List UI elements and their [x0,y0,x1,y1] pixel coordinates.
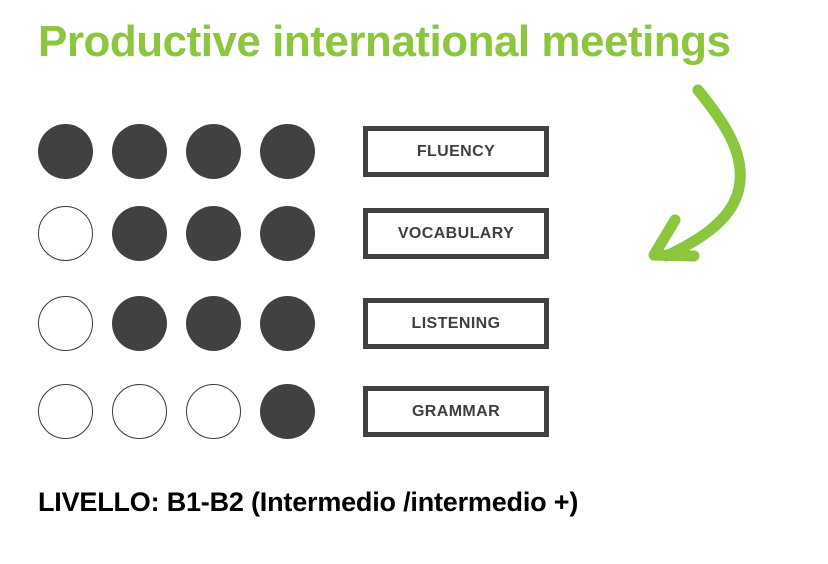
skill-label-box-fluency: FLUENCY [363,126,549,177]
rating-dot-filled [112,206,167,261]
skill-label: GRAMMAR [412,403,500,421]
level-text: LIVELLO: B1-B2 (Intermedio /intermedio +… [38,487,578,518]
skill-row: FLUENCY [38,124,558,180]
skill-label-box-listening: LISTENING [363,298,549,349]
rating-dot-empty [112,384,167,439]
rating-dot-filled [260,124,315,179]
rating-dot-empty [38,296,93,351]
rating-dot-filled [38,124,93,179]
rating-dot-filled [112,296,167,351]
rating-dot-filled [186,206,241,261]
rating-dot-filled [112,124,167,179]
rating-dot-filled [260,206,315,261]
skill-rating-dots [38,124,338,180]
skill-label-box-vocabulary: VOCABULARY [363,208,549,259]
skill-row: LISTENING [38,296,558,352]
skill-label-box-grammar: GRAMMAR [363,386,549,437]
skill-row: GRAMMAR [38,384,558,440]
skill-rating-dots [38,384,338,440]
skill-label: VOCABULARY [398,225,514,243]
curved-arrow-down-left-icon [620,70,770,280]
rating-dot-filled [260,384,315,439]
infographic-canvas: Productive international meetings FLUENC… [0,0,828,564]
rating-dot-filled [186,296,241,351]
rating-dot-empty [186,384,241,439]
skill-rating-dots [38,296,338,352]
skill-label: FLUENCY [417,143,495,161]
rating-dot-empty [38,384,93,439]
rating-dot-filled [260,296,315,351]
skill-rating-dots [38,206,338,262]
skill-label: LISTENING [412,315,501,333]
skill-row: VOCABULARY [38,206,558,262]
rating-dot-empty [38,206,93,261]
rating-dot-filled [186,124,241,179]
